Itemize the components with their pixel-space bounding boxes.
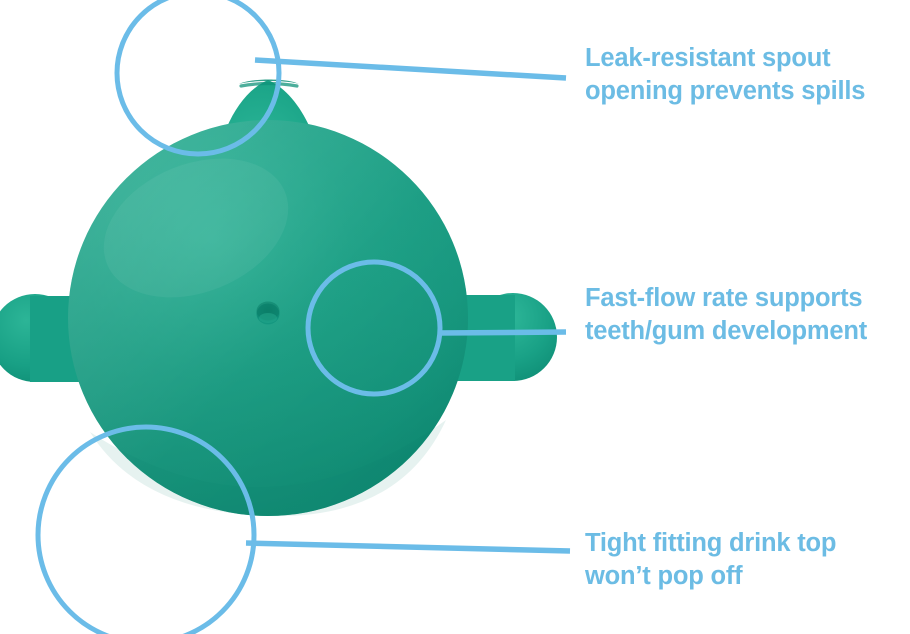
callout-text-tight-fitting-drink-top: Tight fitting drink top won’t pop off: [585, 527, 836, 592]
right-tab: [455, 293, 557, 381]
vent-hole: [257, 302, 280, 325]
callout-3-line-1: Tight fitting drink top: [585, 527, 836, 560]
callout-text-fast-flow-rate: Fast-flow rate supports teeth/gum develo…: [585, 282, 867, 347]
callout-3-line-2: won’t pop off: [585, 560, 836, 593]
callout-2-line-2: teeth/gum development: [585, 315, 867, 348]
callout-2-line-1: Fast-flow rate supports: [585, 282, 867, 315]
callout-1-line-2: opening prevents spills: [585, 75, 865, 108]
callout-text-leak-resistant-spout: Leak-resistant spout opening prevents sp…: [585, 42, 865, 107]
callout-1-line-1: Leak-resistant spout: [585, 42, 865, 75]
product-feature-infographic: Leak-resistant spout opening prevents sp…: [0, 0, 910, 634]
